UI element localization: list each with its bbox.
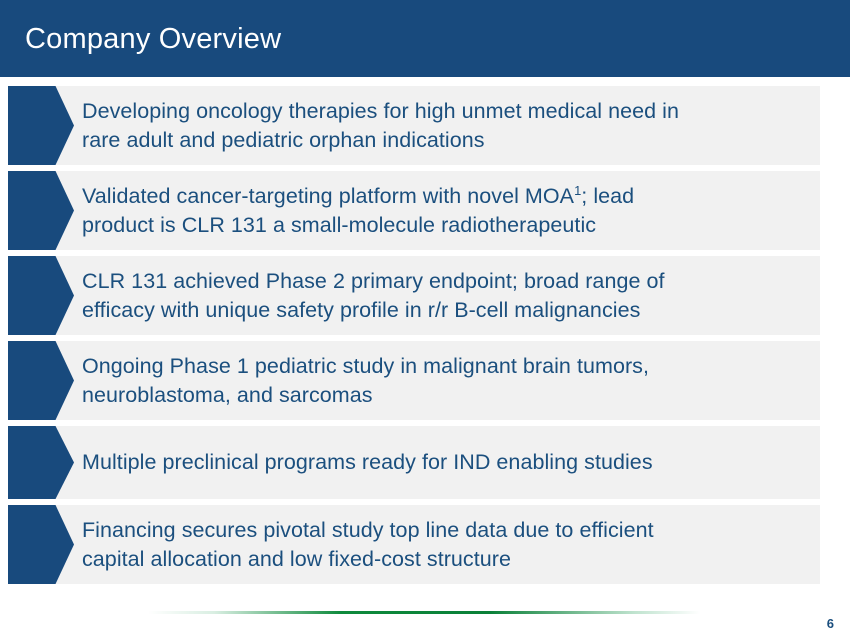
bullet-line-1-post: ; lead (581, 184, 634, 208)
bullet-text: Validated cancer-targeting platform with… (82, 171, 820, 250)
bullet-line-2: capital allocation and low fixed-cost st… (82, 545, 820, 574)
bullet-line-1: Multiple preclinical programs ready for … (82, 448, 820, 477)
list-item: Financing secures pivotal study top line… (0, 505, 850, 584)
bullet-list: Developing oncology therapies for high u… (0, 86, 850, 590)
bullet-line-1-pre: Validated cancer-targeting platform with… (82, 184, 574, 208)
list-item: Developing oncology therapies for high u… (0, 86, 850, 165)
list-item: Multiple preclinical programs ready for … (0, 426, 850, 499)
list-item: Validated cancer-targeting platform with… (0, 171, 850, 250)
bullet-text: Ongoing Phase 1 pediatric study in malig… (82, 341, 820, 420)
page-number: 6 (827, 616, 834, 631)
bullet-line-1: CLR 131 achieved Phase 2 primary endpoin… (82, 267, 820, 296)
slide-canvas: Company Overview Developing oncology the… (0, 0, 850, 638)
bullet-text: Financing secures pivotal study top line… (82, 505, 820, 584)
bullet-line-1: Developing oncology therapies for high u… (82, 97, 820, 126)
bullet-line-2: neuroblastoma, and sarcomas (82, 381, 820, 410)
bullet-text: Multiple preclinical programs ready for … (82, 426, 820, 499)
bullet-text: CLR 131 achieved Phase 2 primary endpoin… (82, 256, 820, 335)
bullet-line-1: Ongoing Phase 1 pediatric study in malig… (82, 352, 820, 381)
list-item: CLR 131 achieved Phase 2 primary endpoin… (0, 256, 850, 335)
footer-divider (148, 611, 700, 614)
bullet-line-2: product is CLR 131 a small-molecule radi… (82, 211, 820, 240)
page-title: Company Overview (25, 22, 281, 56)
list-item: Ongoing Phase 1 pediatric study in malig… (0, 341, 850, 420)
bullet-line-1: Financing secures pivotal study top line… (82, 516, 820, 545)
bullet-line-2: rare adult and pediatric orphan indicati… (82, 126, 820, 155)
slide-header: Company Overview (0, 0, 850, 77)
bullet-line-1: Validated cancer-targeting platform with… (82, 182, 820, 211)
bullet-line-2: efficacy with unique safety profile in r… (82, 296, 820, 325)
bullet-text: Developing oncology therapies for high u… (82, 86, 820, 165)
